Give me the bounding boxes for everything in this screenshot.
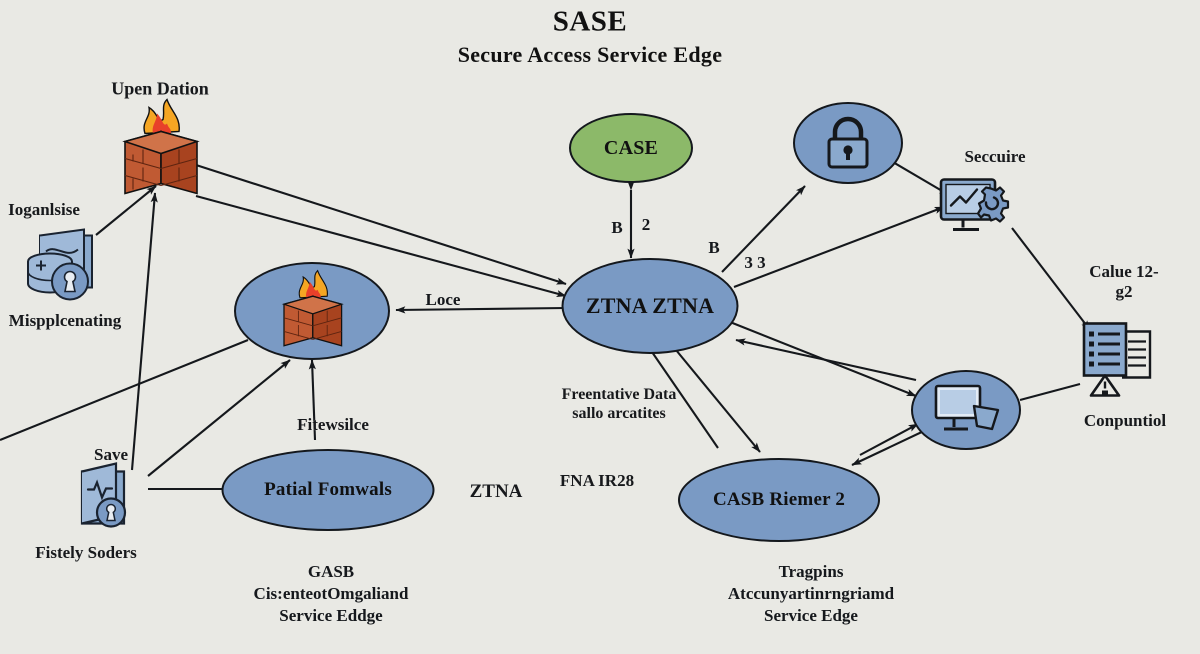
edge-monitor-to-firewall [132, 193, 155, 470]
edge-screen-to-doc [1020, 384, 1080, 400]
edge-ztna-to-analytics [734, 207, 944, 287]
monitor-waveform-lock-icon [64, 456, 148, 545]
node-ztna-center[interactable]: ZTNA ZTNA [562, 258, 739, 354]
label-ioganlsise: Ioganlsise [8, 200, 80, 220]
label-mispplcenating: Mispplcenating [9, 311, 121, 331]
caption-1: Tragpins Atccunyartinrngriamd Service Ed… [728, 561, 894, 627]
edge-label-1: B [611, 218, 622, 238]
floating-label-1: FNA IR28 [560, 471, 634, 491]
edge-ztna-to-firewall-ellipse [396, 308, 566, 310]
database-shield-lock-icon [14, 222, 110, 323]
node-label: CASB Riemer 2 [713, 489, 845, 510]
monitor-shield-icon [930, 381, 1002, 439]
caption-0: GASB Cis:enteotOmgaliand Service Eddge [254, 561, 409, 627]
diagram-canvas: SASE Secure Access Service Edge Upen Dat… [0, 0, 1200, 654]
label-seccuire: Seccuire [964, 147, 1025, 167]
node-label: ZTNA ZTNA [586, 294, 714, 319]
floating-label-0: ZTNA [470, 481, 523, 503]
edge-screen-to-ztna [736, 340, 916, 380]
label-calue: Calue 12-g2 [1086, 262, 1162, 302]
node-patial-fomwals[interactable]: Patial Fomwals [222, 449, 435, 531]
label-upen-dation: Upen Dation [111, 78, 209, 99]
label-fitewsilce: Fitewsilce [297, 415, 369, 435]
node-label: CASE [604, 137, 658, 159]
edge-label-3: B [708, 238, 719, 258]
edge-label-2: 2 [642, 215, 651, 235]
node-screen-ellipse[interactable] [911, 370, 1021, 450]
node-firewall-ellipse[interactable] [234, 262, 390, 360]
edge-label-0: Loce [426, 290, 461, 310]
document-checklist-warning-icon [1072, 316, 1168, 411]
monitor-chart-gear-icon [935, 172, 1021, 253]
page-title: SASE [553, 6, 628, 39]
node-casb-bottom[interactable]: CASB Riemer 2 [678, 458, 880, 542]
label-conpuntiol: Conpuntiol [1084, 411, 1166, 431]
node-lock-ellipse[interactable] [793, 102, 903, 184]
padlock-icon [817, 112, 879, 174]
node-case[interactable]: CASE [569, 113, 693, 183]
edge-label-4: 3 3 [744, 253, 765, 273]
label-fistely-soders: Fistely Soders [35, 543, 137, 563]
floating-label-2: Freentative Data sallo arcatites [562, 386, 677, 424]
edge-ztna-to-casb [676, 350, 760, 452]
node-label: Patial Fomwals [264, 479, 392, 500]
firewall-brick-flame-icon [105, 98, 215, 203]
edge-casb-to-screen [860, 424, 918, 455]
page-subtitle: Secure Access Service Edge [458, 42, 723, 68]
